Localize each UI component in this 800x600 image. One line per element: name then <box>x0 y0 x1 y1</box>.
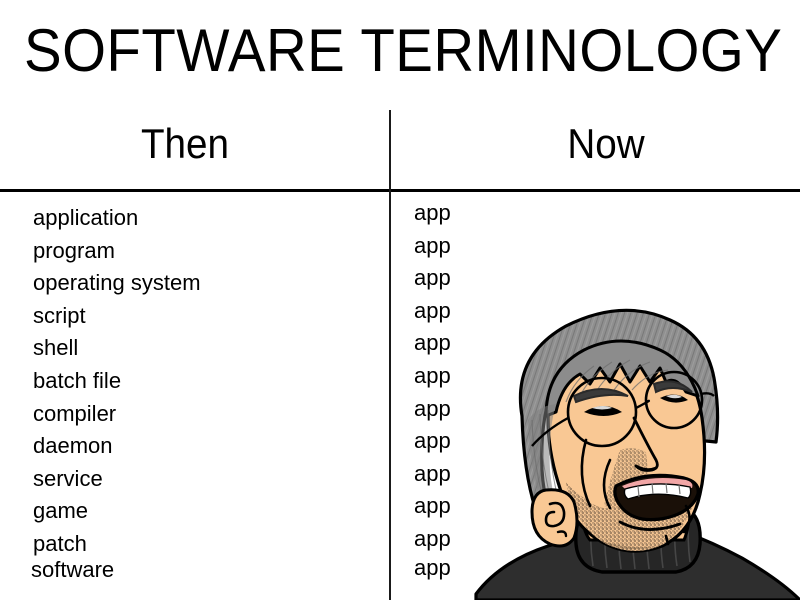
list-item: app <box>414 426 451 459</box>
list-item: game <box>33 496 201 529</box>
list-item: daemon <box>33 431 201 464</box>
list-item: app <box>414 491 451 524</box>
list-item: app <box>414 198 451 231</box>
list-item: software <box>31 555 201 588</box>
column-header-then: Then <box>70 118 300 170</box>
then-term-list: application program operating system scr… <box>33 203 201 587</box>
list-item: app <box>414 296 451 329</box>
list-item: compiler <box>33 399 201 432</box>
list-item: service <box>33 464 201 497</box>
list-item: application <box>33 203 201 236</box>
header-divider-horizontal <box>0 189 800 192</box>
list-item: program <box>33 236 201 269</box>
list-item: app <box>414 394 451 427</box>
list-item: app <box>414 231 451 264</box>
steve-jobs-cartoon-portrait <box>470 300 800 600</box>
list-item: batch file <box>33 366 201 399</box>
list-item: app <box>414 459 451 492</box>
ear <box>532 490 577 546</box>
list-item: app <box>414 553 451 586</box>
meme-canvas: SOFTWARE TERMINOLOGY Then Now applicatio… <box>0 0 800 600</box>
list-item: app <box>414 263 451 296</box>
column-header-now: Now <box>499 118 712 170</box>
list-item: app <box>414 361 451 394</box>
column-divider-vertical <box>389 110 391 600</box>
list-item: operating system <box>33 268 201 301</box>
now-term-list: app app app app app app app app app app … <box>414 198 451 585</box>
list-item: shell <box>33 333 201 366</box>
list-item: script <box>33 301 201 334</box>
list-item: app <box>414 524 451 557</box>
list-item: app <box>414 328 451 361</box>
page-title: SOFTWARE TERMINOLOGY <box>24 16 776 86</box>
